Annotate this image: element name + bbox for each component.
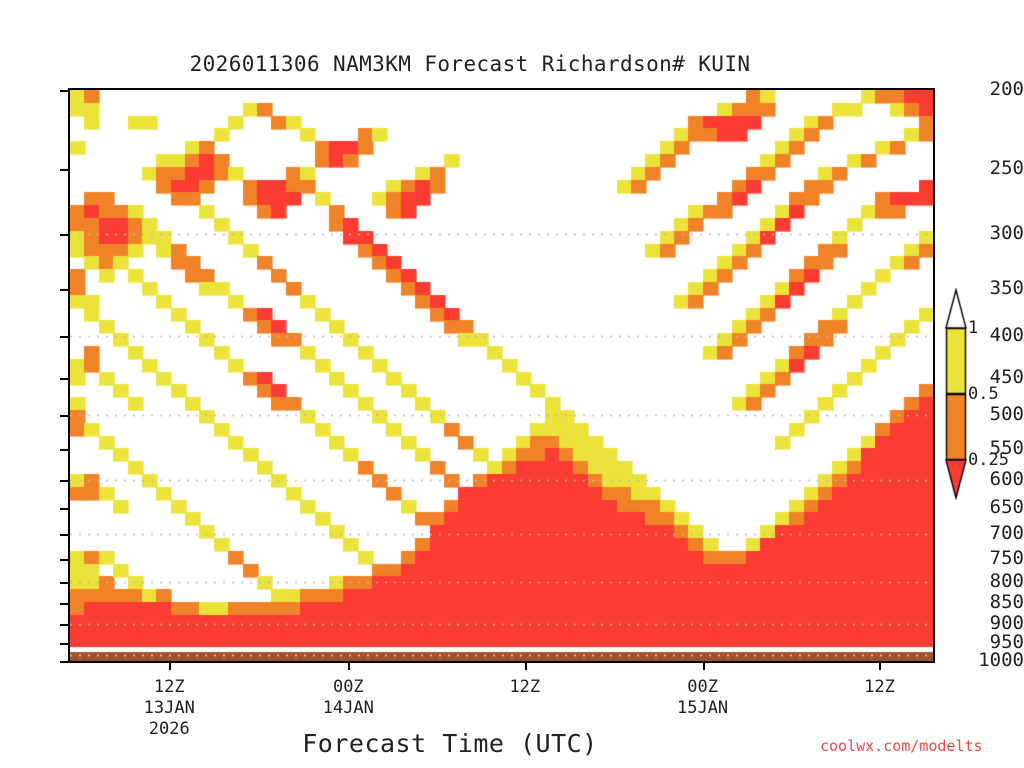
colorbar-legend: 10.50.25 [938, 288, 1024, 500]
y-axis-tick-mark [60, 289, 68, 291]
x-axis-tick-line: 00Z [677, 677, 728, 698]
x-axis-tick-line: 00Z [323, 677, 374, 698]
colorbar-tick-label: 0.5 [968, 386, 999, 403]
x-axis-tick-line: 12Z [509, 677, 540, 698]
y-axis-tick-label: 250 [966, 159, 1024, 178]
x-axis-tick-label: 00Z15JAN [677, 677, 728, 719]
y-axis-tick-mark [60, 90, 68, 92]
x-axis-tick-mark [169, 663, 171, 670]
y-axis-tick-mark [60, 234, 68, 236]
x-axis-title: Forecast Time (UTC) [0, 729, 900, 758]
page-title: 2026011306 NAM3KM Forecast Richardson# K… [0, 52, 940, 76]
x-axis-tick-mark [348, 663, 350, 670]
y-axis-tick-mark [60, 534, 68, 536]
y-axis-tick-mark [60, 378, 68, 380]
x-axis-tick-label: 12Z [864, 677, 895, 698]
y-axis-tick-label: 850 [966, 593, 1024, 612]
y-axis-tick-mark [60, 508, 68, 510]
x-axis-tick-line: 15JAN [677, 698, 728, 719]
x-axis-tick-mark [525, 663, 527, 670]
y-axis-tick-mark [60, 643, 68, 645]
y-axis-tick-mark [60, 336, 68, 338]
y-axis-tick-mark [60, 661, 68, 663]
y-axis-tick-mark [60, 169, 68, 171]
richardson-heatmap-canvas [70, 90, 933, 661]
x-axis-tick-line: 12Z [864, 677, 895, 698]
y-axis-tick-label: 900 [966, 614, 1024, 633]
y-axis-tick-label: 300 [966, 224, 1024, 243]
y-axis-tick-mark [60, 603, 68, 605]
y-axis-tick-label: 800 [966, 572, 1024, 591]
plot-area [68, 88, 935, 663]
y-axis-tick-label: 700 [966, 524, 1024, 543]
y-axis-tick-mark [60, 624, 68, 626]
y-axis-tick-label: 750 [966, 549, 1024, 568]
y-axis-tick-mark [60, 582, 68, 584]
y-axis-tick-label: 1000 [966, 651, 1024, 670]
x-axis-tick-label: 12Z [509, 677, 540, 698]
x-axis-tick-mark [879, 663, 881, 670]
y-axis-tick-mark [60, 449, 68, 451]
watermark-link[interactable]: coolwx.com/modelts [820, 737, 983, 755]
x-axis-tick-label: 00Z14JAN [323, 677, 374, 719]
x-axis-tick-line: 12Z [144, 677, 195, 698]
x-axis-tick-mark [703, 663, 705, 670]
colorbar-tick-label: 1 [968, 320, 978, 337]
y-axis-tick-mark [60, 480, 68, 482]
chart-stage: 2026011306 NAM3KM Forecast Richardson# K… [0, 0, 1024, 768]
colorbar-tick-label: 0.25 [968, 452, 1009, 469]
y-axis-tick-label: 650 [966, 498, 1024, 517]
y-axis-tick-mark [60, 415, 68, 417]
x-axis-tick-line: 13JAN [144, 698, 195, 719]
y-axis-tick-label: 200 [966, 80, 1024, 99]
x-axis-tick-line: 14JAN [323, 698, 374, 719]
y-axis-tick-mark [60, 559, 68, 561]
